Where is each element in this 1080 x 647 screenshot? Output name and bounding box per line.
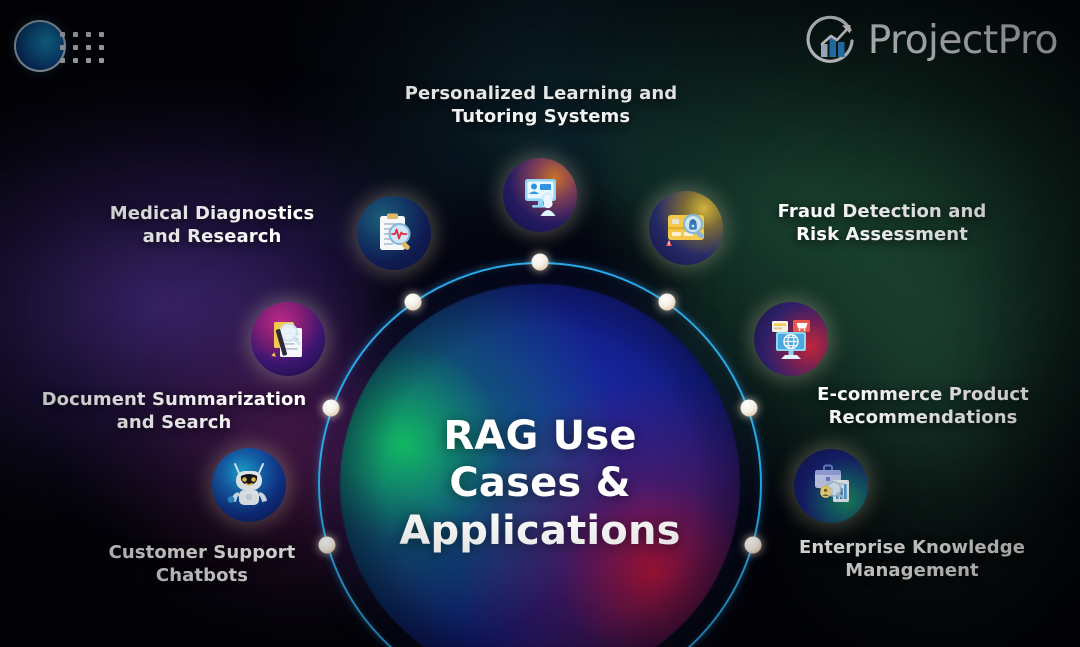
label-personalized-learning: Personalized Learning and Tutoring Syste… bbox=[396, 82, 686, 129]
briefcase-gear-chart-icon bbox=[794, 449, 868, 523]
central-orb: RAG UseCases &Applications bbox=[318, 262, 762, 647]
label-fraud-detection: Fraud Detection and Risk Assessment bbox=[742, 200, 1022, 247]
monitor-globe-shopping-cart-icon bbox=[754, 302, 828, 376]
node-enterprise-knowledge[interactable] bbox=[794, 449, 868, 523]
node-customer-support-chatbots[interactable] bbox=[212, 448, 286, 522]
label-customer-support-chatbots: Customer Support Chatbots bbox=[58, 541, 346, 588]
dot-grid-icon bbox=[60, 32, 112, 64]
page-title-line-1: RAG Use bbox=[443, 413, 636, 460]
document-magnifier-pencil-icon bbox=[251, 302, 325, 376]
label-ecommerce-recommendations: E-commerce Product Recommendations bbox=[782, 383, 1064, 430]
node-medical-diagnostics[interactable] bbox=[357, 196, 431, 270]
label-enterprise-knowledge: Enterprise Knowledge Management bbox=[762, 536, 1062, 583]
page-title: RAG UseCases &Applications bbox=[318, 262, 762, 647]
label-medical-diagnostics: Medical Diagnostics and Research bbox=[62, 202, 362, 249]
node-personalized-learning[interactable] bbox=[503, 158, 577, 232]
growth-chart-circle-icon bbox=[806, 14, 858, 66]
credit-card-security-magnifier-icon bbox=[649, 191, 723, 265]
node-document-summarization[interactable] bbox=[251, 302, 325, 376]
online-learning-monitor-icon bbox=[503, 158, 577, 232]
chatbot-robot-icon bbox=[212, 448, 286, 522]
medical-clipboard-magnifier-icon bbox=[357, 196, 431, 270]
node-ecommerce-recommendations[interactable] bbox=[754, 302, 828, 376]
brand-wordmark: ProjectPro bbox=[868, 18, 1058, 63]
sphere-dot-grid-icon bbox=[12, 12, 122, 70]
page-title-line-3: Applications bbox=[399, 508, 680, 555]
page-title-line-2: Cases & bbox=[449, 460, 630, 507]
infographic-canvas: ProjectPro RAG UseCases &Applications bbox=[0, 0, 1080, 647]
node-fraud-detection[interactable] bbox=[649, 191, 723, 265]
projectpro-logo[interactable]: ProjectPro bbox=[806, 10, 1058, 70]
sphere-icon bbox=[14, 20, 66, 72]
label-document-summarization: Document Summarization and Search bbox=[14, 388, 334, 435]
